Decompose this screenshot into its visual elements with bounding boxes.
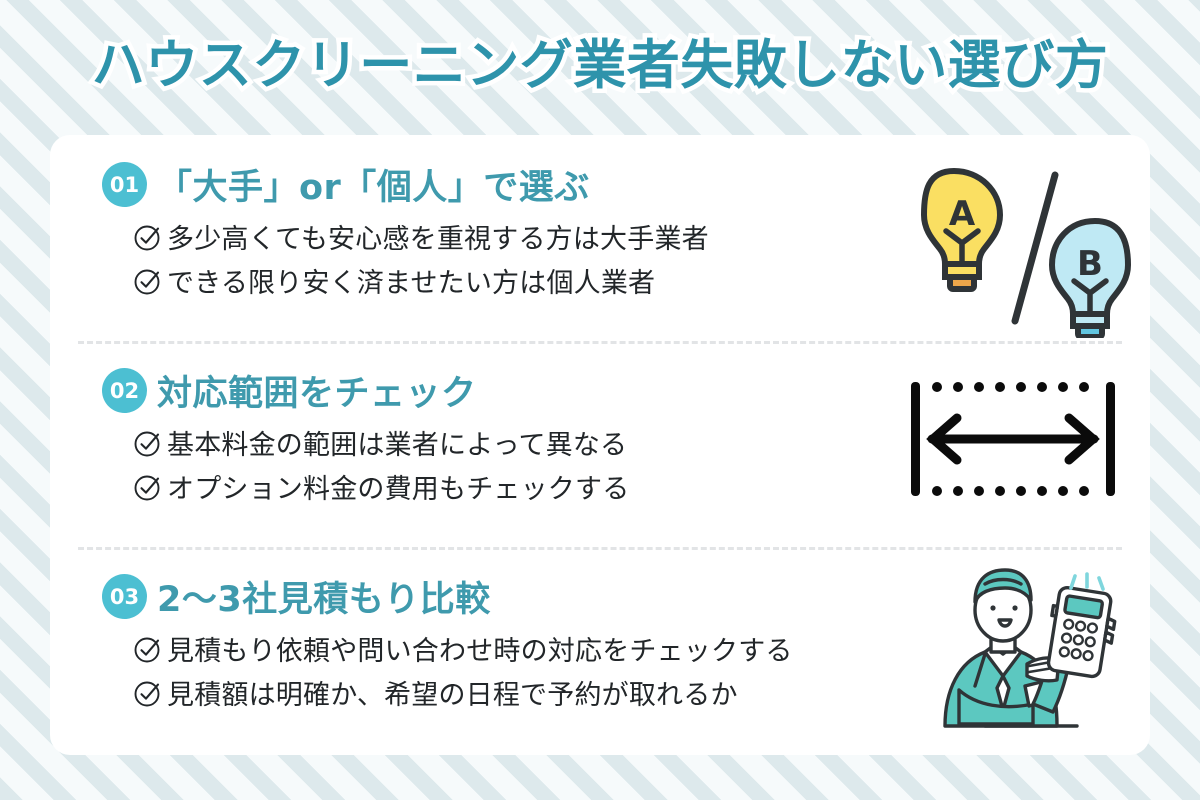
section-02-number-badge: 02 (102, 368, 147, 413)
section-01-number-badge: 01 (102, 162, 147, 207)
left-boundary-bar-icon (911, 382, 920, 496)
dotted-bottom-line-icon (932, 486, 1089, 496)
bulb-a-letter: A (949, 194, 976, 234)
section-03: 03 2〜3社見積もり比較 見積もり依頼や問い合わせ時の対応をチェックする 見積… (50, 547, 1150, 753)
list-item-label: 多少高くても安心感を重視する方は大手業者 (167, 217, 709, 256)
sparkle-icon (1071, 574, 1103, 589)
check-circle-icon (132, 471, 164, 503)
list-item-label: オプション料金の費用もチェックする (167, 467, 629, 506)
businessman-with-calculator-icon (929, 558, 1129, 738)
list-item-label: できる限り安く済ませたい方は個人業者 (167, 261, 655, 300)
bulb-a-icon: A (924, 171, 1000, 289)
measure-range-arrow-icon (907, 378, 1119, 500)
list-item-label: 基本料金の範囲は業者によって異なる (167, 423, 627, 462)
check-circle-icon (132, 677, 164, 709)
check-circle-icon (132, 265, 164, 297)
dotted-top-line-icon (932, 382, 1089, 392)
content-card: 01 「大手」or「個人」で選ぶ 多少高くても安心感を重視する方は大手業者 でき… (50, 135, 1150, 755)
section-01-illustration: A B (912, 153, 1132, 338)
list-item-label: 見積額は明確か、希望の日程で予約が取れるか (167, 673, 738, 712)
section-03-number-badge: 03 (102, 574, 147, 619)
section-03-heading: 2〜3社見積もり比較 (157, 571, 491, 622)
slash-divider-icon (1015, 175, 1055, 321)
section-03-illustration (924, 553, 1134, 743)
check-circle-icon (132, 633, 164, 665)
double-arrow-icon (932, 418, 1094, 460)
section-02-heading: 対応範囲をチェック (157, 365, 477, 416)
section-01: 01 「大手」or「個人」で選ぶ 多少高くても安心感を重視する方は大手業者 でき… (50, 135, 1150, 341)
bulb-b-icon: B (1052, 221, 1128, 337)
list-item-label: 見積もり依頼や問い合わせ時の対応をチェックする (167, 629, 793, 668)
page-header: ハウスクリーニング業者失敗しない選び方 (0, 0, 1200, 122)
two-lightbulbs-a-b-icon: A B (912, 153, 1132, 338)
bulb-b-letter: B (1077, 244, 1103, 284)
page-title: ハウスクリーニング業者失敗しない選び方 (92, 23, 1109, 99)
section-02-illustration (898, 369, 1128, 509)
section-02: 02 対応範囲をチェック 基本料金の範囲は業者によって異なる オプション料金の費… (50, 341, 1150, 547)
section-01-heading: 「大手」or「個人」で選ぶ (157, 159, 590, 210)
check-circle-icon (132, 427, 164, 459)
check-circle-icon (132, 221, 164, 253)
right-boundary-bar-icon (1106, 382, 1115, 496)
